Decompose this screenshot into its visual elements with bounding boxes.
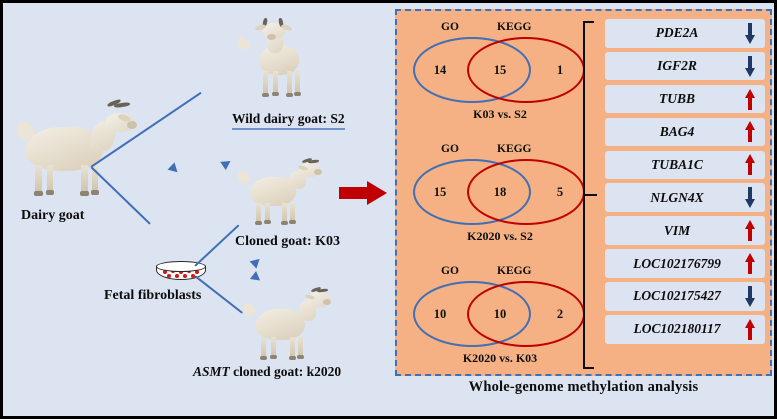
fetal-fibroblast-dish-icon [156,261,206,285]
gene-row-loc102180117[interactable]: LOC102180117 [605,315,765,344]
venn3-caption: K2020 vs. K03 [405,351,595,366]
venn2-kegg-label: KEGG [497,143,532,155]
gene-name: VIM [611,223,743,239]
goat-hoof-3 [80,191,89,196]
k03-hoof-4 [289,220,296,224]
k2020-hoof-2 [270,355,277,359]
goat-hoof-1 [34,191,43,196]
gene-name: PDE2A [611,25,743,41]
venn3-go-label: GO [441,265,459,277]
grouping-bracket [583,21,597,369]
workflow-figure: Dairy goat [0,0,777,419]
venn1-go-only-count: 14 [423,63,457,78]
gene-name: LOC102180117 [611,321,743,337]
experimental-design-panel: Dairy goat [3,3,393,416]
venn3-shared-count: 10 [483,307,517,322]
kid-hoof-1 [262,93,269,97]
venn1-kegg-label: KEGG [497,21,532,33]
cloned-goat-k03-image [236,161,328,231]
gene-row-vim[interactable]: VIM [605,216,765,245]
arrow-up-icon [743,121,757,142]
kid-leg-3 [287,71,292,95]
gene-row-pde2a[interactable]: PDE2A [605,19,765,48]
arrow-down-icon [743,187,757,208]
venn1-caption: K03 vs. S2 [405,107,595,122]
gene-list: PDE2A IGF2R TUBB BAG4 TUBA1C NLGN4X [605,19,765,348]
k03-tail [236,169,252,186]
venn1-go-label: GO [441,21,459,33]
k2020-muzzle [323,299,331,305]
goat-muzzle [127,121,137,129]
k2020-leg-3 [290,337,295,358]
venn3-go-only-count: 10 [423,307,457,322]
gene-name: LOC102176799 [611,256,743,272]
kid-tail [235,35,250,51]
k2020-body [255,309,305,340]
venn2-kegg-only-count: 5 [543,185,577,200]
venn2-go-label: GO [441,143,459,155]
arrow-down-icon [743,56,757,77]
k2020-tail [241,301,257,318]
k2020-hoof-4 [297,355,304,359]
asmt-gene-label: ASMT [193,364,230,379]
venn1-kegg-only-count: 1 [543,63,577,78]
dairy-goat-label: Dairy goat [21,208,84,224]
fetal-fibroblasts-label: Fetal fibroblasts [104,288,201,304]
arrow-down-icon [743,286,757,307]
venn2-go-only-count: 15 [423,185,457,200]
asmt-cloned-goat-label-rest: cloned goat: k2020 [230,364,341,379]
gene-row-loc102175427[interactable]: LOC102175427 [605,282,765,311]
arrow-up-icon [743,220,757,241]
gene-name: TUBB [611,91,743,107]
kid-hoof-3 [286,93,293,97]
gene-name: LOC102175427 [611,288,743,304]
k2020-horn-right [317,288,328,292]
k03-hoof-2 [264,220,271,224]
kid-leg-1 [263,71,268,95]
kid-leg-2 [273,71,278,94]
k2020-leg-1 [261,337,266,358]
asmt-cloned-goat-k2020-image [241,291,337,365]
k2020-hoof-1 [260,356,267,360]
k03-leg-1 [256,203,261,223]
goat-leg-3 [81,165,88,193]
wild-dairy-goat-image [235,21,321,103]
k03-hoof-3 [281,221,288,225]
venn2-shared-count: 18 [483,185,517,200]
k2020-leg-2 [271,337,276,357]
cloned-goat-k03-label: Cloned goat: K03 [235,234,340,250]
gene-row-nlgn4x[interactable]: NLGN4X [605,183,765,212]
gene-name: TUBA1C [611,157,743,173]
venn3-kegg-label: KEGG [497,265,532,277]
asmt-cloned-goat-label: ASMT cloned goat: k2020 [193,364,341,380]
gene-name: BAG4 [611,124,743,140]
panel-caption: Whole-genome methylation analysis [395,379,772,396]
kid-hoof-2 [272,92,279,96]
gene-row-igf2r[interactable]: IGF2R [605,52,765,81]
gene-row-tuba1c[interactable]: TUBA1C [605,151,765,180]
k03-horn-right [308,159,319,163]
process-arrow-icon [339,181,387,205]
k03-leg-3 [282,203,287,223]
goat-leg-1 [35,165,42,193]
k2020-leg-4 [298,337,303,357]
k03-muzzle [314,169,322,175]
kid-hoof-4 [294,92,301,96]
venn-diagram-k03-vs-s2: GO KEGG 14 15 1 K03 vs. S2 [405,21,595,125]
arrow-up-icon [743,89,757,110]
gene-name: IGF2R [611,58,743,74]
goat-leg-2 [47,165,53,192]
gene-row-bag4[interactable]: BAG4 [605,118,765,147]
goat-hoof-2 [46,190,54,195]
goat-horn-right [114,102,130,108]
methylation-analysis-panel: GO KEGG 14 15 1 K03 vs. S2 GO KEGG 15 18… [395,9,772,376]
k2020-hoof-3 [289,356,296,360]
arrow-up-icon [743,154,757,175]
wild-dairy-goat-label: Wild dairy goat: S2 [232,111,345,130]
venn-diagram-k2020-vs-k03: GO KEGG 10 10 2 K2020 vs. K03 [405,265,595,369]
gene-row-loc102176799[interactable]: LOC102176799 [605,249,765,278]
arrow-down-icon [743,23,757,44]
kid-leg-4 [295,71,300,94]
gene-row-tubb[interactable]: TUBB [605,85,765,114]
arrow-up-icon [743,253,757,274]
venn2-caption: K2020 vs. S2 [405,229,595,244]
gene-name: NLGN4X [611,190,743,206]
venn1-shared-count: 15 [483,63,517,78]
goat-hoof-4 [91,190,99,195]
k03-hoof-1 [255,221,262,225]
arrow-up-icon [743,319,757,340]
kid-muzzle [267,34,276,40]
venn3-kegg-only-count: 2 [543,307,577,322]
venn-diagram-k2020-vs-s2: GO KEGG 15 18 5 K2020 vs. S2 [405,143,595,247]
